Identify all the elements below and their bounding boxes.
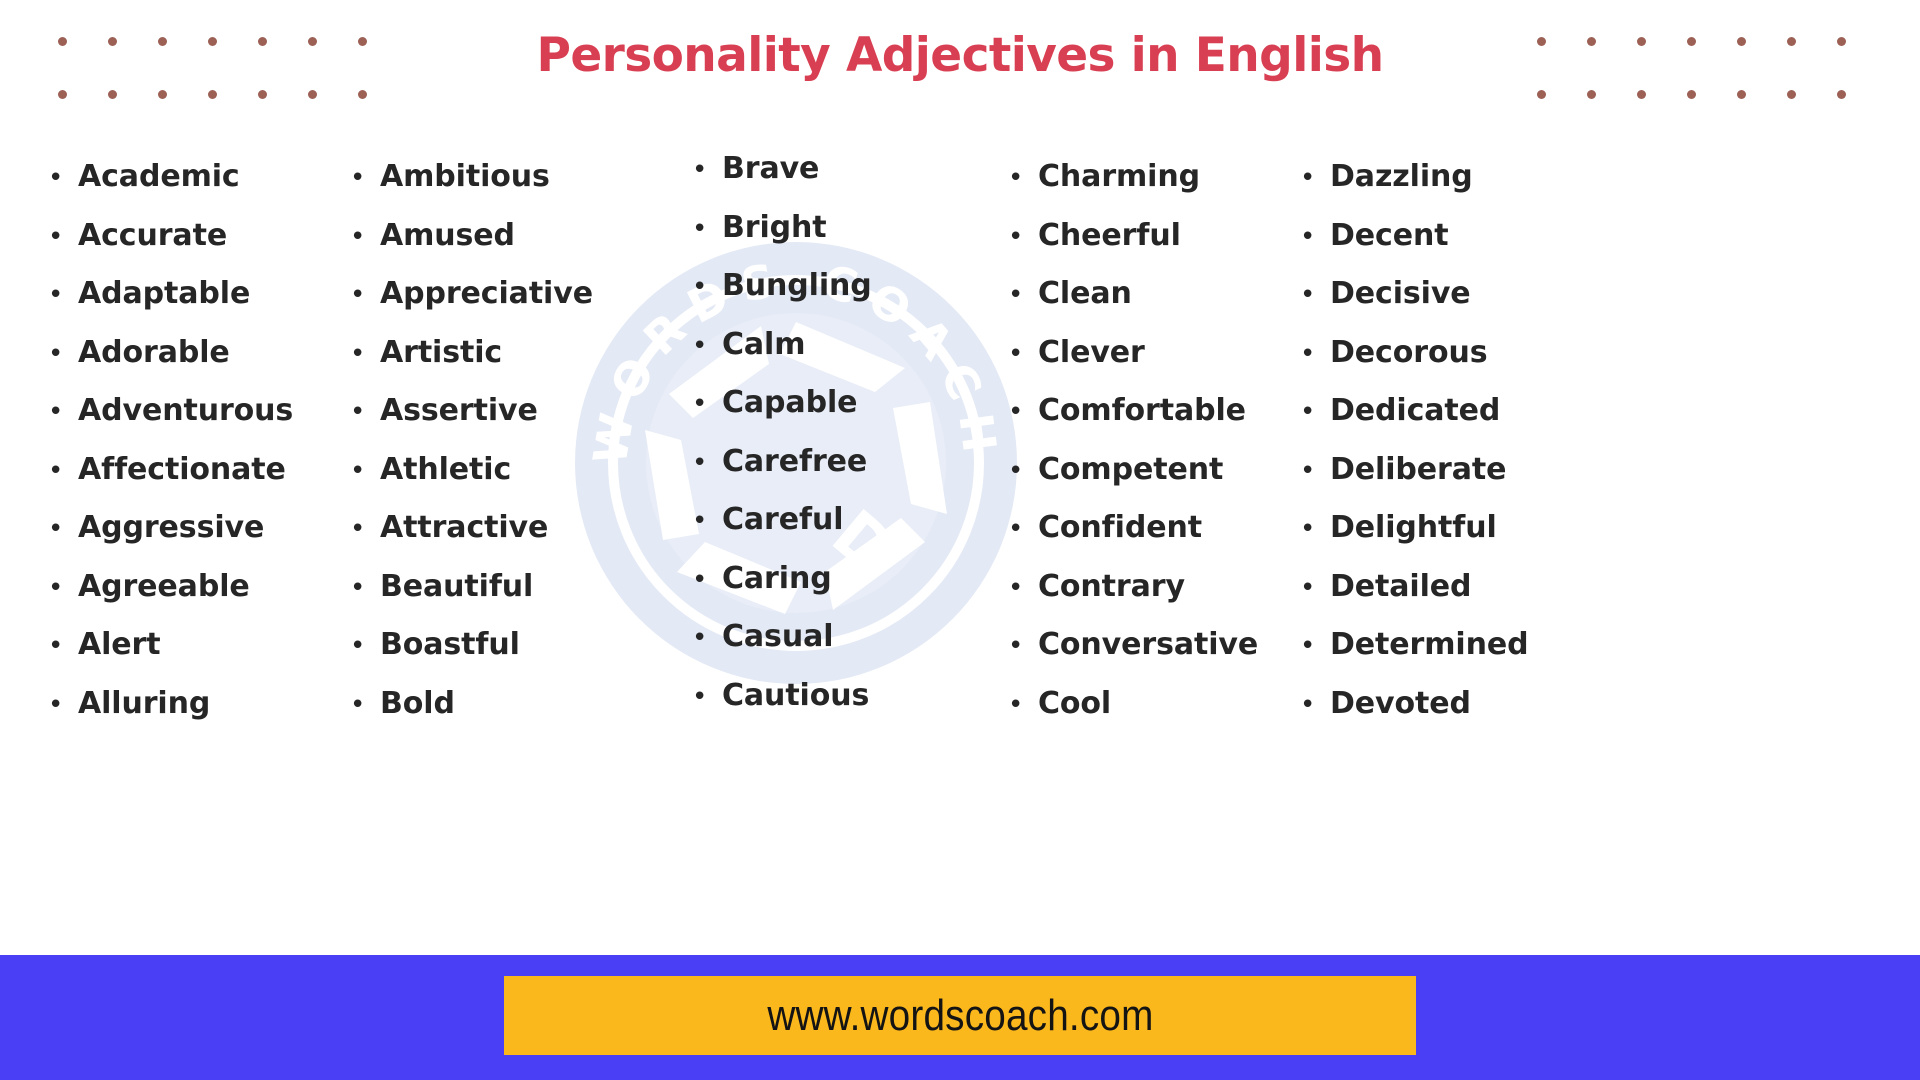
adjective-label: Competent	[1038, 441, 1223, 500]
list-item: •Beautiful	[350, 558, 593, 617]
bullet-icon: •	[1008, 149, 1038, 208]
bullet-icon: •	[350, 383, 380, 442]
adjective-column-2: •Ambitious•Amused•Appreciative•Artistic•…	[350, 148, 593, 733]
bullet-icon: •	[48, 149, 78, 208]
adjective-label: Decorous	[1330, 324, 1487, 383]
bullet-icon: •	[1300, 149, 1330, 208]
adjective-label: Clever	[1038, 324, 1145, 383]
adjective-label: Amused	[380, 207, 515, 266]
adjective-label: Dedicated	[1330, 382, 1500, 441]
bullet-icon: •	[48, 266, 78, 325]
adjective-column-1: •Academic•Accurate•Adaptable•Adorable•Ad…	[48, 148, 293, 733]
bullet-icon: •	[48, 500, 78, 559]
adjective-label: Decisive	[1330, 265, 1471, 324]
list-item: •Clean	[1008, 265, 1258, 324]
adjective-label: Appreciative	[380, 265, 593, 324]
adjective-label: Bungling	[722, 257, 872, 316]
list-item: •Agreeable	[48, 558, 293, 617]
list-item: •Boastful	[350, 616, 593, 675]
adjective-label: Deliberate	[1330, 441, 1506, 500]
bullet-icon: •	[692, 141, 722, 200]
adjective-label: Alluring	[78, 675, 210, 734]
bullet-icon: •	[350, 149, 380, 208]
adjective-label: Boastful	[380, 616, 520, 675]
list-item: •Adorable	[48, 324, 293, 383]
list-item: •Brave	[692, 140, 872, 199]
bullet-icon: •	[1300, 617, 1330, 676]
list-item: •Athletic	[350, 441, 593, 500]
adjective-label: Detailed	[1330, 558, 1471, 617]
bullet-icon: •	[1008, 559, 1038, 618]
adjective-label: Capable	[722, 374, 857, 433]
list-item: •Adaptable	[48, 265, 293, 324]
list-item: •Alert	[48, 616, 293, 675]
list-item: •Attractive	[350, 499, 593, 558]
list-item: •Caring	[692, 550, 872, 609]
bullet-icon: •	[350, 208, 380, 267]
bullet-icon: •	[692, 434, 722, 493]
list-item: •Cautious	[692, 667, 872, 726]
adjective-label: Cautious	[722, 667, 869, 726]
list-item: •Bungling	[692, 257, 872, 316]
bullet-icon: •	[692, 258, 722, 317]
adjective-label: Beautiful	[380, 558, 533, 617]
footer-bar: www.wordscoach.com	[0, 955, 1920, 1080]
adjective-label: Affectionate	[78, 441, 286, 500]
bullet-icon: •	[1008, 500, 1038, 559]
list-item: •Artistic	[350, 324, 593, 383]
bullet-icon: •	[48, 676, 78, 735]
poster-canvas: Personality Adjectives in English	[0, 0, 1920, 1080]
list-item: •Decisive	[1300, 265, 1528, 324]
list-item: •Assertive	[350, 382, 593, 441]
adjective-column-3: •Brave•Bright•Bungling•Calm•Capable•Care…	[692, 140, 872, 725]
list-item: •Bright	[692, 199, 872, 258]
list-item: •Calm	[692, 316, 872, 375]
list-item: •Competent	[1008, 441, 1258, 500]
adjective-label: Comfortable	[1038, 382, 1246, 441]
bullet-icon: •	[1300, 208, 1330, 267]
bullet-icon: •	[692, 317, 722, 376]
adjective-label: Contrary	[1038, 558, 1185, 617]
adjective-label: Casual	[722, 608, 833, 667]
list-item: •Appreciative	[350, 265, 593, 324]
adjective-label: Adaptable	[78, 265, 250, 324]
adjective-label: Careful	[722, 491, 843, 550]
list-item: •Bold	[350, 675, 593, 734]
adjective-label: Conversative	[1038, 616, 1258, 675]
list-item: •Casual	[692, 608, 872, 667]
adjective-label: Delightful	[1330, 499, 1497, 558]
list-item: •Contrary	[1008, 558, 1258, 617]
bullet-icon: •	[1008, 617, 1038, 676]
list-item: •Affectionate	[48, 441, 293, 500]
adjective-label: Agreeable	[78, 558, 250, 617]
bullet-icon: •	[1008, 383, 1038, 442]
list-item: •Determined	[1300, 616, 1528, 675]
adjective-column-5: •Dazzling•Decent•Decisive•Decorous•Dedic…	[1300, 148, 1528, 733]
adjective-label: Artistic	[380, 324, 502, 383]
bullet-icon: •	[350, 442, 380, 501]
adjective-label: Adorable	[78, 324, 230, 383]
bullet-icon: •	[48, 442, 78, 501]
adjective-label: Caring	[722, 550, 832, 609]
bullet-icon: •	[48, 559, 78, 618]
list-item: •Delightful	[1300, 499, 1528, 558]
list-item: •Amused	[350, 207, 593, 266]
bullet-icon: •	[1300, 325, 1330, 384]
bullet-icon: •	[692, 375, 722, 434]
adjective-label: Brave	[722, 140, 819, 199]
list-item: •Cheerful	[1008, 207, 1258, 266]
bullet-icon: •	[350, 500, 380, 559]
adjective-label: Academic	[78, 148, 240, 207]
adjective-label: Cool	[1038, 675, 1111, 734]
bullet-icon: •	[1300, 500, 1330, 559]
list-item: •Ambitious	[350, 148, 593, 207]
list-item: •Comfortable	[1008, 382, 1258, 441]
list-item: •Charming	[1008, 148, 1258, 207]
bullet-icon: •	[1008, 325, 1038, 384]
list-item: •Academic	[48, 148, 293, 207]
adjective-label: Cheerful	[1038, 207, 1181, 266]
bullet-icon: •	[692, 492, 722, 551]
bullet-icon: •	[350, 617, 380, 676]
adjective-label: Ambitious	[380, 148, 550, 207]
list-item: •Careful	[692, 491, 872, 550]
list-item: •Carefree	[692, 433, 872, 492]
list-item: •Decorous	[1300, 324, 1528, 383]
adjective-label: Confident	[1038, 499, 1202, 558]
list-item: •Capable	[692, 374, 872, 433]
bullet-icon: •	[692, 551, 722, 610]
list-item: •Conversative	[1008, 616, 1258, 675]
bullet-icon: •	[692, 668, 722, 727]
adjective-label: Charming	[1038, 148, 1200, 207]
adjective-label: Assertive	[380, 382, 538, 441]
bullet-icon: •	[1008, 442, 1038, 501]
adjective-columns: •Academic•Accurate•Adaptable•Adorable•Ad…	[0, 0, 1920, 955]
adjective-label: Devoted	[1330, 675, 1471, 734]
bullet-icon: •	[350, 676, 380, 735]
adjective-label: Alert	[78, 616, 160, 675]
bullet-icon: •	[48, 617, 78, 676]
adjective-label: Carefree	[722, 433, 867, 492]
adjective-label: Clean	[1038, 265, 1132, 324]
adjective-label: Decent	[1330, 207, 1448, 266]
adjective-column-4: •Charming•Cheerful•Clean•Clever•Comforta…	[1008, 148, 1258, 733]
list-item: •Deliberate	[1300, 441, 1528, 500]
adjective-label: Aggressive	[78, 499, 264, 558]
adjective-label: Calm	[722, 316, 805, 375]
bullet-icon: •	[350, 325, 380, 384]
bullet-icon: •	[1008, 208, 1038, 267]
bullet-icon: •	[1300, 266, 1330, 325]
bullet-icon: •	[692, 609, 722, 668]
footer-url-box[interactable]: www.wordscoach.com	[504, 976, 1416, 1055]
adjective-label: Adventurous	[78, 382, 293, 441]
bullet-icon: •	[350, 266, 380, 325]
bullet-icon: •	[48, 325, 78, 384]
bullet-icon: •	[1300, 676, 1330, 735]
adjective-label: Bright	[722, 199, 827, 258]
bullet-icon: •	[350, 559, 380, 618]
list-item: •Clever	[1008, 324, 1258, 383]
bullet-icon: •	[692, 200, 722, 259]
list-item: •Adventurous	[48, 382, 293, 441]
adjective-label: Determined	[1330, 616, 1528, 675]
bullet-icon: •	[1300, 559, 1330, 618]
list-item: •Aggressive	[48, 499, 293, 558]
bullet-icon: •	[1008, 266, 1038, 325]
list-item: •Dazzling	[1300, 148, 1528, 207]
list-item: •Cool	[1008, 675, 1258, 734]
adjective-label: Attractive	[380, 499, 548, 558]
bullet-icon: •	[48, 208, 78, 267]
bullet-icon: •	[1300, 442, 1330, 501]
list-item: •Dedicated	[1300, 382, 1528, 441]
footer-url-label: www.wordscoach.com	[767, 991, 1153, 1041]
list-item: •Decent	[1300, 207, 1528, 266]
adjective-label: Bold	[380, 675, 455, 734]
adjective-label: Accurate	[78, 207, 227, 266]
list-item: •Accurate	[48, 207, 293, 266]
list-item: •Detailed	[1300, 558, 1528, 617]
list-item: •Devoted	[1300, 675, 1528, 734]
list-item: •Alluring	[48, 675, 293, 734]
list-item: •Confident	[1008, 499, 1258, 558]
bullet-icon: •	[48, 383, 78, 442]
adjective-label: Dazzling	[1330, 148, 1473, 207]
bullet-icon: •	[1300, 383, 1330, 442]
adjective-label: Athletic	[380, 441, 511, 500]
bullet-icon: •	[1008, 676, 1038, 735]
